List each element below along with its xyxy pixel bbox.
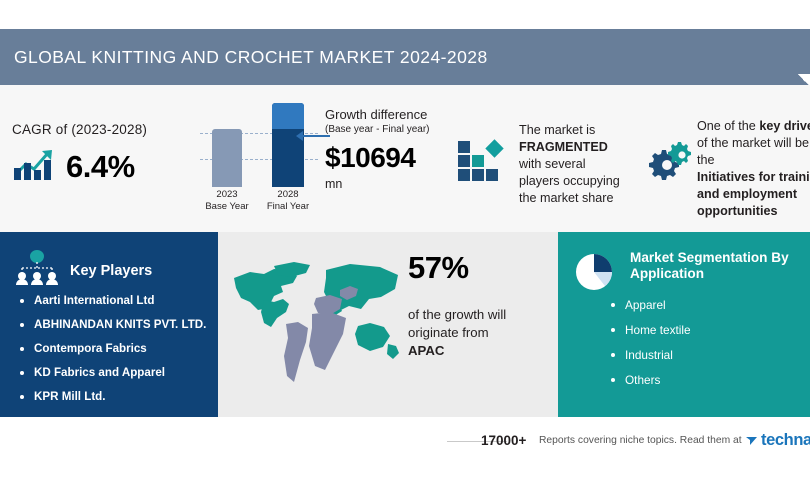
region-bold: APAC	[408, 343, 444, 358]
bar-2023	[212, 129, 242, 187]
cagr-value: 6.4%	[66, 149, 135, 185]
middle-band: Key Players Aarti International Ltd ABHI…	[0, 232, 810, 417]
pie-chart-icon	[574, 250, 618, 299]
list-item: KD Fabrics and Apparel	[18, 366, 214, 380]
report-count: 17000+	[481, 433, 526, 448]
cagr-label: CAGR of (2023-2028)	[12, 122, 202, 137]
segmentation-title: Market Segmentation By Application	[630, 250, 790, 282]
growth-difference-title: Growth difference	[325, 107, 475, 122]
bar-2028	[272, 103, 304, 187]
world-map-icon	[228, 240, 403, 410]
network-nodes-icon	[14, 248, 60, 293]
list-item: Contempora Fabrics	[18, 342, 214, 356]
key-players-header: Key Players	[14, 248, 152, 293]
fragmented-bold: FRAGMENTED	[519, 140, 608, 154]
list-item: Aarti International Ltd	[18, 294, 214, 308]
growth-difference-value: $10694	[325, 142, 475, 174]
list-item: Apparel	[610, 298, 800, 312]
bar-label-2028: 2028 Final Year	[256, 189, 320, 213]
region-growth-block: 57% of the growth will originate from AP…	[408, 250, 548, 360]
drivers-line2: of the market will be the	[697, 136, 809, 167]
footer-bar: 17000+ Reports covering niche topics. Re…	[0, 417, 810, 480]
drivers-bold-block: Initiatives for training and employment …	[697, 170, 810, 218]
fragmented-line1: The market is	[519, 123, 595, 137]
header-bar: GLOBAL KNITTING AND CROCHET MARKET 2024-…	[0, 29, 810, 85]
list-item: Industrial	[610, 348, 800, 362]
fragmented-line3: players occupying	[519, 174, 620, 188]
growth-bar-chart: 2023 Base Year 2028 Final Year	[198, 99, 318, 217]
key-players-panel: Key Players Aarti International Ltd ABHI…	[0, 232, 218, 417]
drivers-line1-pre: One of the	[697, 119, 759, 133]
key-drivers-text: One of the key drivers of the market wil…	[697, 118, 810, 220]
growth-difference-subtitle: (Base year - Final year)	[325, 123, 475, 136]
footer-text: Reports covering niche topics. Read them…	[539, 435, 742, 446]
region-line1: of the growth will	[408, 307, 506, 322]
gears-icon	[645, 140, 691, 184]
bar-2028-growth-segment	[272, 103, 304, 129]
technavio-logo-text: technavi	[761, 431, 810, 450]
key-players-list: Aarti International Ltd ABHINANDAN KNITS…	[18, 294, 214, 414]
list-item: KPR Mill Ltd.	[18, 390, 214, 404]
logo-text-blue: techna	[761, 431, 810, 449]
fragmented-line2: with several	[519, 157, 586, 171]
growth-difference-unit: mn	[325, 177, 475, 191]
segmentation-header: Market Segmentation By Application	[574, 250, 790, 299]
list-item: ABHINANDAN KNITS PVT. LTD.	[18, 318, 214, 332]
list-item: Home textile	[610, 323, 800, 337]
bar-chart-growth-icon	[12, 146, 56, 187]
key-players-title: Key Players	[70, 263, 152, 279]
region-line2: originate from	[408, 325, 489, 340]
page-title: GLOBAL KNITTING AND CROCHET MARKET 2024-…	[0, 47, 488, 68]
segmentation-panel: Market Segmentation By Application Appar…	[558, 232, 810, 417]
fragmented-line4: the market share	[519, 191, 614, 205]
region-percent: 57%	[408, 250, 548, 286]
top-metrics-band: CAGR of (2023-2028) 6.4%	[0, 85, 810, 232]
technavio-logo-icon	[745, 434, 758, 447]
region-description: of the growth will originate from APAC	[408, 306, 548, 360]
cagr-block: CAGR of (2023-2028) 6.4%	[12, 122, 202, 187]
drivers-line1-bold: key drivers	[759, 119, 810, 133]
bar-label-2023: 2023 Base Year	[195, 189, 259, 213]
growth-difference-block: Growth difference (Base year - Final yea…	[325, 107, 475, 191]
fragmented-text: The market is FRAGMENTED with several pl…	[519, 122, 639, 207]
list-item: Others	[610, 373, 800, 387]
squares-diamond-icon	[458, 141, 506, 183]
segmentation-list: Apparel Home textile Industrial Others	[610, 298, 800, 398]
technavio-logo[interactable]: technavi	[745, 431, 810, 450]
header-corner-notch	[796, 74, 810, 85]
infographic-poster: GLOBAL KNITTING AND CROCHET MARKET 2024-…	[0, 0, 810, 480]
